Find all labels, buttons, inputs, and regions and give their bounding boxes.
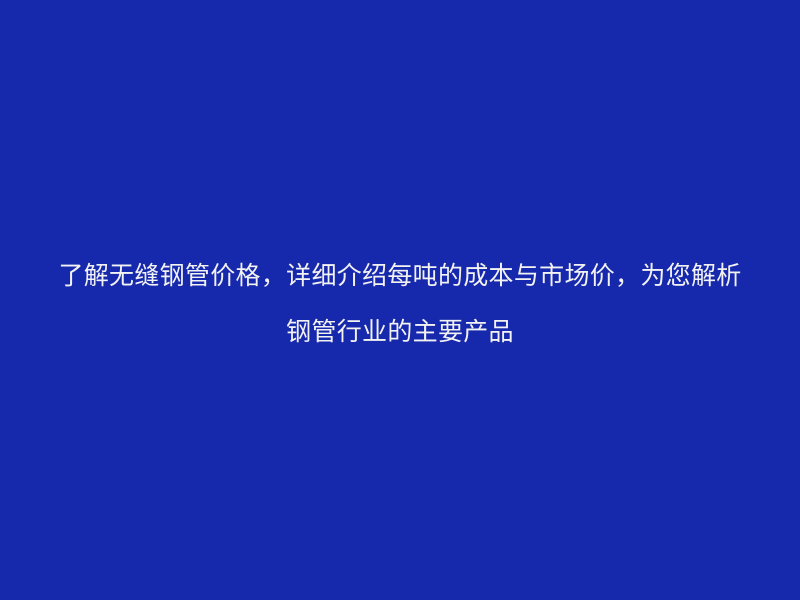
slide-canvas: 了解无缝钢管价格，详细介绍每吨的成本与市场价，为您解析钢管行业的主要产品 bbox=[0, 0, 800, 600]
page-title: 了解无缝钢管价格，详细介绍每吨的成本与市场价，为您解析钢管行业的主要产品 bbox=[55, 248, 745, 360]
headline-block: 了解无缝钢管价格，详细介绍每吨的成本与市场价，为您解析钢管行业的主要产品 bbox=[0, 248, 800, 360]
